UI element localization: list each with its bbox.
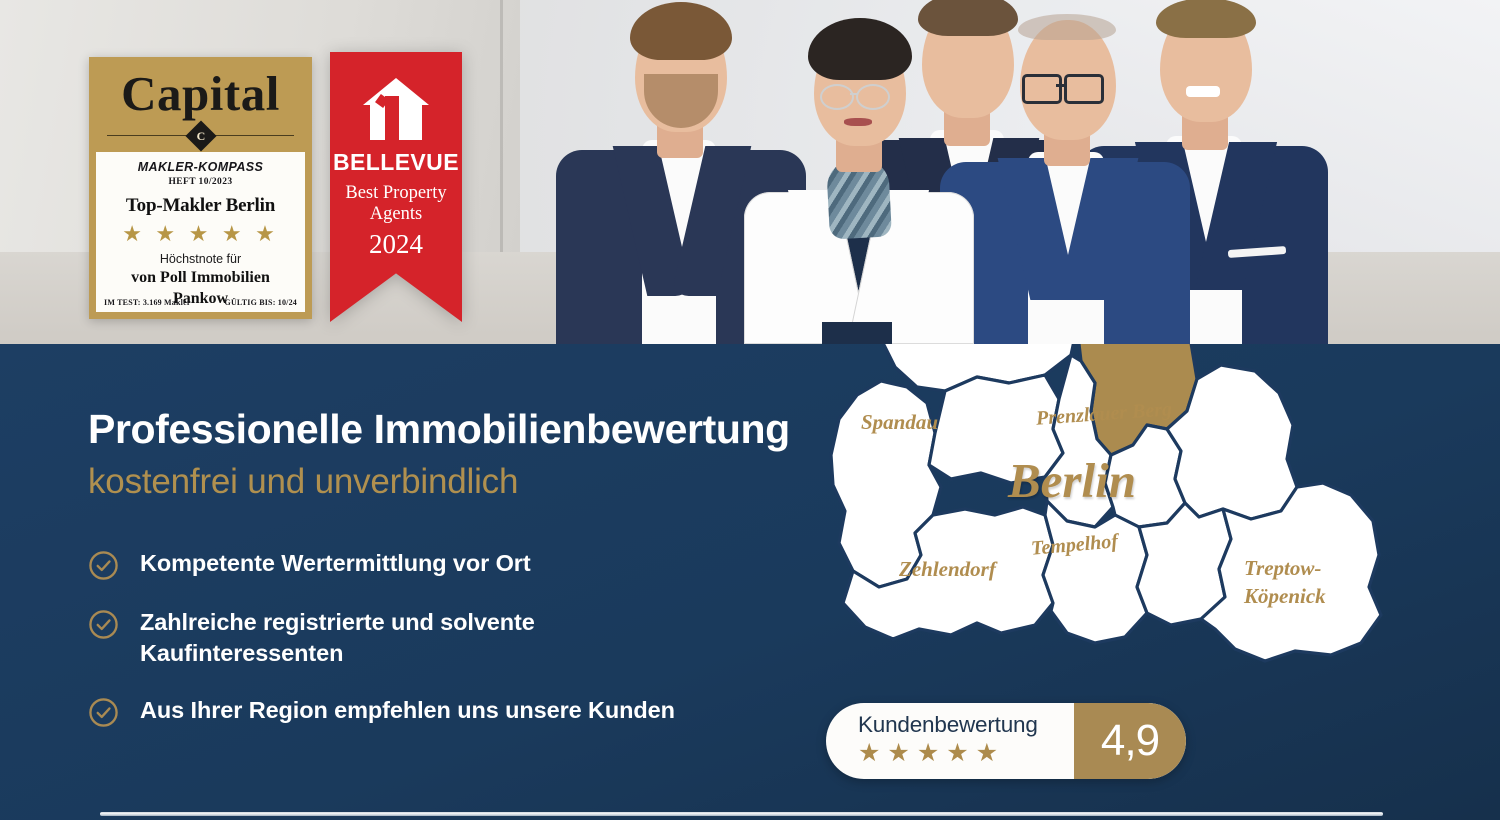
capital-firm-line1: von Poll Immobilien [104, 268, 297, 287]
check-circle-icon [88, 697, 119, 728]
rating-stars: ★★★★★ [858, 739, 1038, 767]
capital-footer-left: IM TEST: 3.169 Makler [104, 298, 191, 307]
benefit-text: Kompetente Wertermittlung vor Ort [140, 548, 531, 579]
map-label-koepenick: Köpenick [1244, 582, 1326, 610]
capital-subtitle: Höchstnote für [104, 252, 297, 266]
map-label-spandau: Spandau [861, 410, 938, 435]
bellevue-year: 2024 [330, 229, 462, 260]
capital-footer-right: GÜLTIG BIS: 10/24 [225, 298, 297, 307]
bellevue-subtitle: Best Property Agents [330, 183, 462, 225]
capital-brand: Capital [89, 65, 312, 122]
map-label-treptow: Treptow- [1244, 554, 1326, 582]
map-label-berlin: Berlin [1008, 452, 1136, 509]
capital-card: MAKLER-KOMPASS HEFT 10/2023 Top-Makler B… [96, 152, 305, 312]
bellevue-ribbon: BELLEVUE Best Property Agents 2024 [330, 52, 462, 322]
capital-monogram-letter: C [190, 125, 212, 147]
benefit-text: Zahlreiche registrierte und solvente Kau… [140, 607, 708, 669]
check-circle-icon [88, 609, 119, 640]
rating-score: 4,9 [1074, 703, 1186, 779]
bellevue-award-badge: BELLEVUE Best Property Agents 2024 [330, 52, 462, 322]
benefits-list: Kompetente Wertermittlung vor Ort Zahlre… [88, 548, 708, 754]
capital-stars: ★ ★ ★ ★ ★ [104, 221, 297, 247]
benefit-text: Aus Ihrer Region empfehlen uns unsere Ku… [140, 695, 675, 726]
list-item: Kompetente Wertermittlung vor Ort [88, 548, 708, 581]
bellevue-subtitle-line1: Best Property [330, 183, 462, 204]
list-item: Aus Ihrer Region empfehlen uns unsere Ku… [88, 695, 708, 728]
marketing-banner: Capital C MAKLER-KOMPASS HEFT 10/2023 To… [0, 0, 1500, 820]
map-label-treptow-koepenick: Treptow- Köpenick [1244, 554, 1326, 610]
rating-info: Kundenbewertung ★★★★★ [858, 712, 1038, 767]
map-label-zehlendorf: Zehlendorf [899, 557, 996, 582]
capital-award-title: Top-Makler Berlin [104, 195, 297, 217]
capital-header: Capital C [89, 57, 312, 145]
page-title: Professionelle Immobilienbewertung [88, 406, 790, 453]
capital-footer: IM TEST: 3.169 Makler GÜLTIG BIS: 10/24 [104, 298, 297, 307]
bellevue-brand: BELLEVUE [330, 149, 462, 176]
section-divider [100, 812, 1383, 816]
check-circle-icon [88, 550, 119, 581]
bellevue-subtitle-line2: Agents [330, 204, 462, 225]
page-subtitle: kostenfrei und unverbindlich [88, 462, 518, 502]
house-number-one-icon [363, 78, 429, 140]
team-member-2 [744, 0, 974, 344]
customer-rating-badge: Kundenbewertung ★★★★★ 4,9 [826, 703, 1186, 779]
rating-label: Kundenbewertung [858, 712, 1038, 738]
list-item: Zahlreiche registrierte und solvente Kau… [88, 607, 708, 669]
capital-kompass-label: MAKLER-KOMPASS [104, 160, 297, 174]
capital-issue: HEFT 10/2023 [104, 177, 297, 187]
team-member-4 [940, 0, 1190, 344]
capital-award-badge: Capital C MAKLER-KOMPASS HEFT 10/2023 To… [89, 57, 312, 319]
capital-monogram-icon: C [185, 120, 216, 151]
